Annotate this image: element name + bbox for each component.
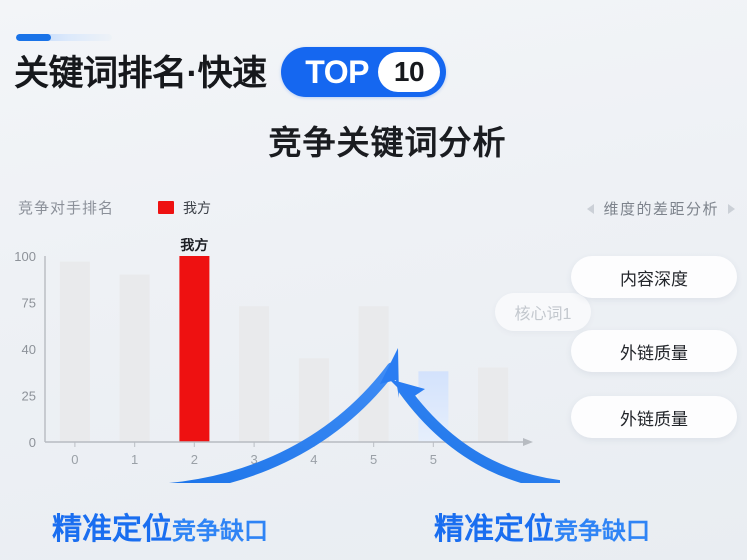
progress-bar-fill	[16, 34, 51, 41]
chart-y-tick-label: 75	[22, 296, 36, 311]
dimension-panel-header: 维度的差距分析	[587, 198, 735, 219]
chart-bar	[478, 368, 508, 442]
top-rank-badge: TOP 10	[281, 47, 446, 97]
chart-y-tick-label: 25	[22, 389, 36, 404]
triangle-right-icon[interactable]	[728, 204, 735, 214]
caption-right: 精准定位 竞争缺口	[434, 504, 650, 548]
headline-text: 关键词排名·快速	[14, 56, 267, 91]
dimension-panel-title: 维度的差距分析	[603, 198, 719, 219]
chart-y-axis: 1007540250	[14, 249, 36, 450]
top-rank-badge-number: 10	[378, 52, 440, 92]
chart-y-tick-label: 0	[29, 435, 36, 450]
page-title: 竞争关键词分析	[0, 116, 747, 164]
chart-bar	[60, 262, 90, 442]
bar-chart: 1007540250 0123455 我方	[0, 238, 560, 483]
growth-arrow-right	[389, 379, 560, 483]
ghost-keyword-pill[interactable]: 核心词1	[495, 293, 591, 331]
legend-color-swatch-icon	[158, 201, 174, 214]
top-rank-badge-word: TOP	[305, 56, 369, 88]
caption-left-strong: 精准定位	[52, 504, 172, 548]
caption-left: 精准定位 竞争缺口	[52, 504, 268, 548]
legend-entry-label: 我方	[183, 198, 211, 218]
bar-chart-svg: 1007540250 0123455 我方	[0, 238, 560, 483]
chart-x-tick-label: 5	[370, 452, 377, 467]
chart-y-tick-label: 40	[22, 342, 36, 357]
headline: 关键词排名·快速	[14, 47, 267, 99]
progress-bar	[16, 34, 112, 41]
poster-canvas: TOP 10 关键词排名·快速 竞争关键词分析 竞争对手排名 我方 维度的差距分…	[0, 0, 747, 560]
chart-bar	[120, 275, 150, 442]
chart-x-tick-label: 5	[430, 452, 437, 467]
chart-legend-caption: 竞争对手排名	[18, 197, 114, 218]
chart-legend: 竞争对手排名 我方	[18, 197, 211, 218]
dimension-pill-0[interactable]: 内容深度	[571, 256, 737, 298]
chart-x-axis: 0123455	[71, 442, 437, 467]
highlight-bar-label: 我方	[180, 238, 208, 253]
x-axis-arrowhead-icon	[523, 438, 533, 446]
chart-bars	[60, 256, 508, 442]
chart-x-tick-label: 0	[71, 452, 78, 467]
caption-right-soft: 竞争缺口	[554, 511, 650, 546]
chart-x-tick-label: 2	[191, 452, 198, 467]
chart-x-tick-label: 4	[310, 452, 317, 467]
triangle-left-icon[interactable]	[587, 204, 594, 214]
dimension-pill-2[interactable]: 外链质量	[571, 396, 737, 438]
chart-x-tick-label: 1	[131, 452, 138, 467]
caption-left-soft: 竞争缺口	[172, 511, 268, 546]
chart-bar-highlight	[179, 256, 209, 442]
chart-y-tick-label: 100	[14, 249, 36, 264]
dimension-pill-1[interactable]: 外链质量	[571, 330, 737, 372]
chart-bar	[239, 306, 269, 442]
caption-right-strong: 精准定位	[434, 504, 554, 548]
legend-entry-ours: 我方	[158, 198, 211, 218]
